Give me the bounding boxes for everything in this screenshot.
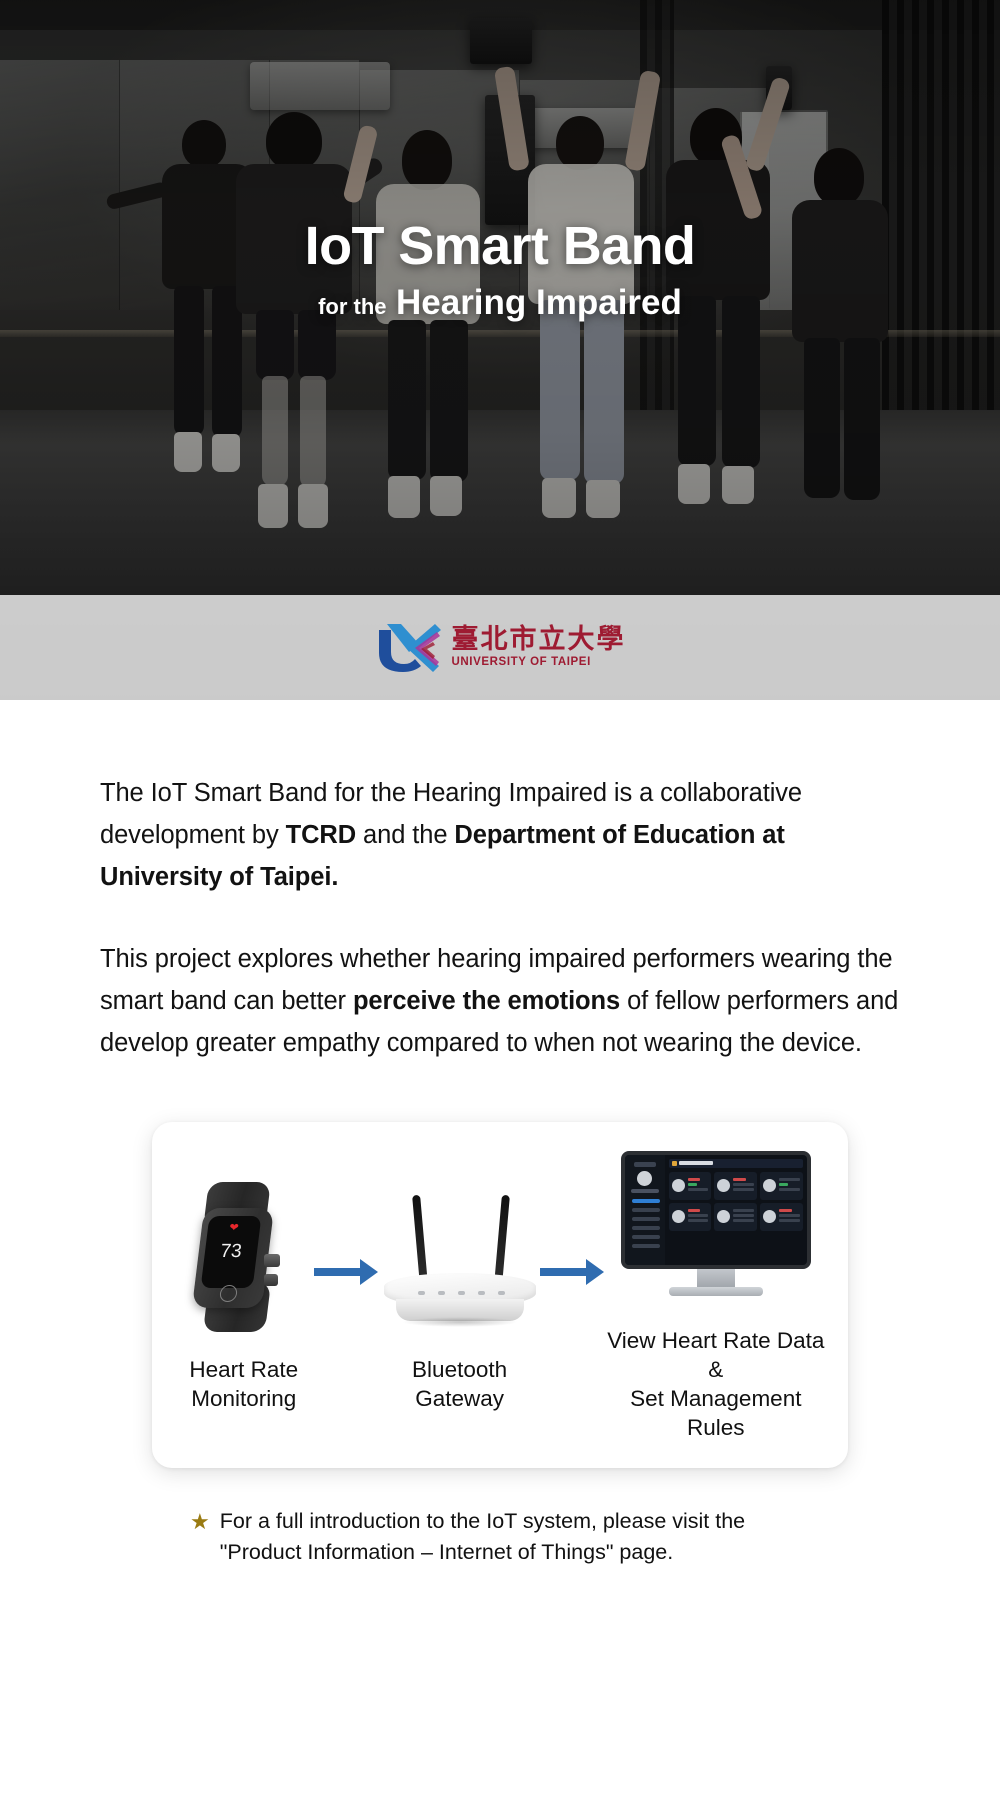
dashboard-metric-line: [688, 1219, 709, 1222]
flow-stage-label-line2: Monitoring: [189, 1384, 298, 1413]
intro-paragraph-segment-2: and the: [356, 821, 454, 849]
star-icon: ★: [190, 1506, 210, 1537]
dashboard-metric-line: [688, 1188, 709, 1191]
dashboard-brand-text: [679, 1161, 713, 1165]
router-shadow: [402, 1317, 518, 1327]
bluetooth-gateway-device: [380, 1181, 540, 1333]
dashboard-metric-line: [733, 1178, 745, 1181]
monitor-stand-base: [669, 1287, 763, 1296]
dashboard-metric-line: [733, 1183, 754, 1186]
dashboard-card-body: [688, 1209, 709, 1224]
intro-paragraph-segment-1: TCRD: [286, 821, 356, 849]
flow-stage-heart-rate-monitoring: ❤ 73 Heart Rate Monitoring: [174, 1177, 314, 1413]
smart-band-device: ❤ 73: [192, 1182, 296, 1332]
dashboard-nav-item: [632, 1244, 660, 1248]
dashboard-metric-line: [688, 1214, 709, 1217]
router-antenna-left: [412, 1195, 428, 1285]
dashboard-nav-item: [632, 1217, 660, 1221]
dashboard-brand-icon: [672, 1161, 677, 1166]
flow-stage-dashboard: View Heart Rate Data & Set Management Ru…: [606, 1148, 826, 1442]
dashboard-sidebar: [625, 1155, 665, 1265]
project-paragraph: This project explores whether hearing im…: [100, 938, 900, 1064]
dashboard-nav-item: [632, 1208, 660, 1212]
dashboard-card-body: [733, 1209, 754, 1224]
dashboard-user-card: [669, 1172, 712, 1200]
dashboard-metric-line: [779, 1178, 800, 1181]
dashboard-header: [669, 1159, 803, 1168]
flow-stage-label-line1: View Heart Rate Data &: [606, 1326, 826, 1384]
dashboard-metric-line: [779, 1188, 800, 1191]
flow-stage-label: Heart Rate Monitoring: [189, 1355, 298, 1413]
main-content: The IoT Smart Band for the Hearing Impai…: [0, 772, 1000, 1568]
flow-stage-label-line1: Bluetooth: [412, 1355, 507, 1384]
dashboard-metric-line: [688, 1209, 700, 1212]
flow-stage-label-line2: Gateway: [412, 1384, 507, 1413]
intro-paragraph: The IoT Smart Band for the Hearing Impai…: [100, 772, 900, 898]
smart-band-illustration: ❤ 73: [192, 1177, 296, 1337]
hero-banner: IoT Smart Band for the Hearing Impaired …: [0, 0, 1000, 700]
dashboard-user-card: [714, 1203, 757, 1231]
dashboard-nav-item: [632, 1235, 660, 1239]
flow-stage-bluetooth-gateway: Bluetooth Gateway: [380, 1177, 540, 1413]
avatar: [763, 1210, 776, 1223]
avatar: [672, 1179, 685, 1192]
router-led: [438, 1291, 445, 1295]
dashboard-card-body: [779, 1178, 800, 1193]
dashboard-user-card: [760, 1203, 803, 1231]
dashboard-main-panel: [665, 1155, 807, 1265]
avatar: [717, 1179, 730, 1192]
university-logo: 臺北市立大學 UNIVERSITY OF TAIPEI: [375, 622, 626, 674]
router-illustration: [380, 1177, 540, 1337]
page-title: IoT Smart Band: [0, 218, 1000, 275]
monitor-screen: [621, 1151, 811, 1269]
university-logo-band: 臺北市立大學 UNIVERSITY OF TAIPEI: [0, 595, 1000, 700]
footnote: ★ For a full introduction to the IoT sys…: [190, 1506, 810, 1568]
page-subtitle: for the Hearing Impaired: [0, 284, 1000, 323]
band-side-button-secondary: [264, 1274, 278, 1286]
flow-stage-label: Bluetooth Gateway: [412, 1355, 507, 1413]
footnote-line2: "Product Information – Internet of Thing…: [220, 1540, 674, 1564]
dashboard-metric-line: [688, 1178, 700, 1181]
monitor-illustration: [621, 1148, 811, 1308]
flow-stage-label-line2: Set Management Rules: [606, 1384, 826, 1442]
avatar: [763, 1179, 776, 1192]
dashboard-metric-line: [779, 1214, 800, 1217]
dashboard-metric-line: [733, 1214, 754, 1217]
project-paragraph-segment-1: perceive the emotions: [353, 987, 620, 1015]
university-logo-text: 臺北市立大學 UNIVERSITY OF TAIPEI: [452, 626, 626, 669]
dashboard-metric-line: [779, 1219, 800, 1222]
band-side-button: [264, 1254, 280, 1267]
dashboard-card-body: [733, 1178, 754, 1193]
dashboard-user-card: [714, 1172, 757, 1200]
flow-stage-label-line1: Heart Rate: [189, 1355, 298, 1384]
router-led: [458, 1291, 465, 1295]
dashboard-ui: [625, 1155, 807, 1265]
flow-arrow-icon: [314, 1252, 380, 1292]
router-antenna-right: [494, 1195, 510, 1285]
dashboard-user-card: [669, 1203, 712, 1231]
heart-rate-value: 73: [219, 1241, 243, 1263]
university-name-english: UNIVERSITY OF TAIPEI: [452, 657, 626, 669]
flow-arrow-icon: [540, 1252, 606, 1292]
avatar: [672, 1210, 685, 1223]
footnote-text: For a full introduction to the IoT syste…: [220, 1506, 745, 1568]
avatar: [717, 1210, 730, 1223]
dashboard-metric-line: [733, 1219, 754, 1222]
heart-icon: ❤: [228, 1223, 239, 1234]
university-of-taipei-logo-mark: [375, 622, 441, 674]
dashboard-metric-line: [779, 1209, 791, 1212]
desktop-monitor-device: [621, 1151, 811, 1306]
page-subtitle-prefix: for the: [318, 294, 386, 319]
dashboard-sidebar-logo: [634, 1162, 656, 1167]
page-subtitle-main: Hearing Impaired: [396, 283, 682, 322]
dashboard-metric-line: [688, 1183, 697, 1186]
dashboard-nav-item: [632, 1226, 660, 1230]
flow-stage-label: View Heart Rate Data & Set Management Ru…: [606, 1326, 826, 1442]
router-led: [418, 1291, 425, 1295]
dashboard-metric-line: [733, 1209, 754, 1212]
dashboard-card-body: [779, 1209, 800, 1224]
dashboard-card-body: [688, 1178, 709, 1193]
monitor-stand-neck: [697, 1269, 735, 1289]
iot-flow-row: ❤ 73 Heart Rate Monitoring: [174, 1148, 826, 1442]
iot-flow-diagram-card: ❤ 73 Heart Rate Monitoring: [152, 1122, 848, 1468]
dashboard-metric-line: [733, 1188, 754, 1191]
router-led: [498, 1291, 505, 1295]
dashboard-user-card: [760, 1172, 803, 1200]
dashboard-nav-item: [632, 1199, 660, 1203]
dashboard-card-grid: [669, 1172, 803, 1231]
university-name-chinese: 臺北市立大學: [452, 626, 626, 653]
router-led: [478, 1291, 485, 1295]
dashboard-org-name: [631, 1189, 659, 1193]
hero-text-block: IoT Smart Band for the Hearing Impaired: [0, 218, 1000, 323]
dashboard-metric-line: [779, 1183, 788, 1186]
footnote-line1: For a full introduction to the IoT syste…: [220, 1509, 745, 1533]
band-screen: ❤ 73: [200, 1216, 261, 1288]
avatar: [637, 1171, 652, 1186]
